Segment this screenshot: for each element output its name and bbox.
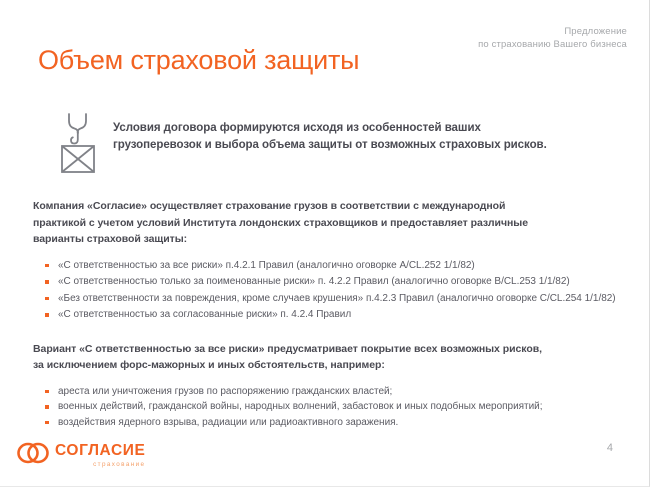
body-content: Компания «Согласие» осуществляет страхов… [33,198,623,431]
sub-lead-line-1: Вариант «С ответственностью за все риски… [33,341,623,358]
lead-line-2: практикой с учетом условий Института лон… [33,215,623,232]
cargo-hook-icon [55,112,101,174]
lead-paragraph: Компания «Согласие» осуществляет страхов… [33,198,623,248]
list-item: «С ответственностью за согласованные рис… [45,308,623,323]
logo-wordmark: СОГЛАСИЕ страхование [55,441,145,469]
list-item: «С ответственностью за все риски» п.4.2.… [45,259,623,274]
page-title: Объем страховой защиты [38,44,359,76]
exclusions-list: ареста или уничтожения грузов по распоря… [33,385,623,431]
list-item: ареста или уничтожения грузов по распоря… [45,385,623,400]
lead-line-1: Компания «Согласие» осуществляет страхов… [33,198,623,215]
lead-line-3: варианты страховой защиты: [33,231,623,248]
list-item: «С ответственностью только за поименован… [45,275,623,290]
slide-kicker: Предложение по страхованию Вашего бизнес… [478,25,627,51]
list-item: «Без ответственности за повреждения, кро… [45,292,623,307]
interlocking-rings-icon [16,441,50,465]
company-logo: СОГЛАСИЕ страхование [16,441,145,469]
callout-text: Условия договора формируются исходя из о… [113,110,547,154]
list-item: воздействия ядерного взрыва, радиации ил… [45,416,623,431]
callout: Условия договора формируются исходя из о… [55,110,615,174]
logo-name: СОГЛАСИЕ [55,443,145,459]
callout-line-2: грузоперевозок и выбора объема защиты от… [113,137,547,154]
list-item: военных действий, гражданской войны, нар… [45,400,623,415]
coverage-options-list: «С ответственностью за все риски» п.4.2.… [33,259,623,323]
page-number: 4 [607,442,613,454]
kicker-line-2: по страхованию Вашего бизнеса [478,38,627,51]
sub-lead-line-2: за исключением форс-мажорных и иных обст… [33,357,623,374]
slide: Предложение по страхованию Вашего бизнес… [0,0,650,487]
callout-line-1: Условия договора формируются исходя из о… [113,120,547,137]
sub-lead-paragraph: Вариант «С ответственностью за все риски… [33,341,623,374]
kicker-line-1: Предложение [478,25,627,38]
logo-subtitle: страхование [55,460,145,469]
